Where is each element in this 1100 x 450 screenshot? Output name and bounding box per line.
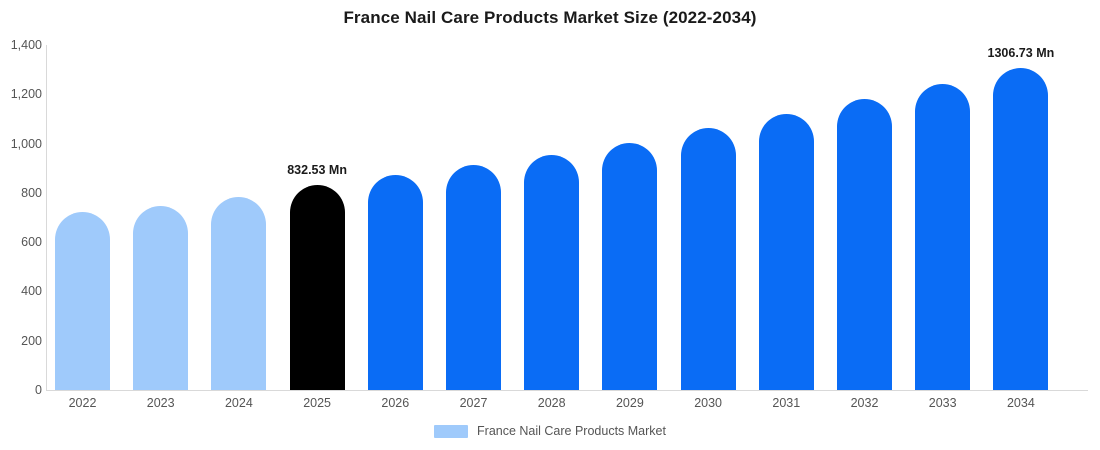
bar-2033[interactable] (915, 84, 970, 390)
x-axis-tick-2026: 2026 (360, 396, 430, 410)
bar-2034[interactable] (993, 68, 1048, 390)
x-axis-tick-2029: 2029 (595, 396, 665, 410)
x-axis-tick-2025: 2025 (282, 396, 352, 410)
bar-2022[interactable] (55, 212, 110, 390)
legend-label: France Nail Care Products Market (477, 424, 666, 438)
x-axis-tick-2022: 2022 (48, 396, 118, 410)
bar-2030[interactable] (681, 128, 736, 390)
x-axis-tick-2031: 2031 (751, 396, 821, 410)
bars-layer: 2022202320242025832.53 Mn202620272028202… (0, 0, 1100, 450)
bar-2024[interactable] (211, 197, 266, 390)
bar-2032[interactable] (837, 99, 892, 390)
bar-2031[interactable] (759, 114, 814, 390)
chart-container: France Nail Care Products Market Size (2… (0, 0, 1100, 450)
bar-2023[interactable] (133, 206, 188, 390)
bar-2028[interactable] (524, 155, 579, 390)
x-axis-tick-2033: 2033 (908, 396, 978, 410)
bar-2029[interactable] (602, 143, 657, 390)
x-axis-tick-2030: 2030 (673, 396, 743, 410)
bar-value-label-2025: 832.53 Mn (287, 163, 347, 177)
bar-value-label-2034: 1306.73 Mn (988, 46, 1055, 60)
bar-2025[interactable] (290, 185, 345, 390)
bar-2026[interactable] (368, 175, 423, 390)
x-axis-tick-2034: 2034 (986, 396, 1056, 410)
x-axis-tick-2028: 2028 (517, 396, 587, 410)
x-axis-tick-2024: 2024 (204, 396, 274, 410)
x-axis-tick-2027: 2027 (439, 396, 509, 410)
bar-2027[interactable] (446, 165, 501, 390)
x-axis-tick-2032: 2032 (830, 396, 900, 410)
x-axis-tick-2023: 2023 (126, 396, 196, 410)
legend-swatch (434, 425, 468, 438)
chart-legend: France Nail Care Products Market (0, 424, 1100, 438)
